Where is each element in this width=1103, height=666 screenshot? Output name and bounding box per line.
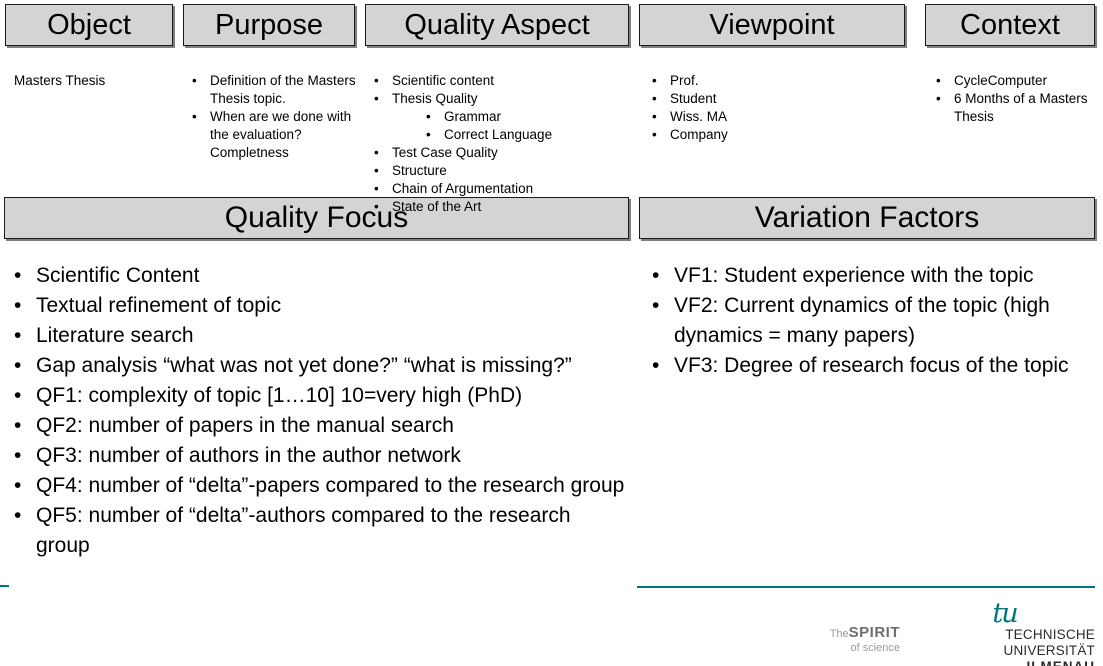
- viewpoint-item-text: Wiss. MA: [670, 109, 727, 124]
- quality-aspect-item-text: Structure: [392, 163, 447, 178]
- context-content: • CycleComputer • 6 Months of a Masters …: [932, 72, 1092, 126]
- list-item: • Structure: [370, 162, 628, 180]
- list-item: • Test Case Quality: [370, 144, 628, 162]
- tu-ilmenau-logo: tu TECHNISCHE UNIVERSITÄT ILMENAU: [920, 601, 1095, 666]
- bullet-icon: •: [374, 198, 379, 216]
- list-item: • VF2: Current dynamics of the topic (hi…: [650, 291, 1082, 351]
- quality-aspect-overflow-item: • State of the Art: [370, 198, 628, 216]
- bullet-icon: •: [652, 108, 657, 126]
- list-item: • VF1: Student experience with the topic: [650, 261, 1082, 291]
- quality-aspect-item-text: Test Case Quality: [392, 145, 498, 160]
- quality-aspect-subitem-text: Correct Language: [444, 127, 552, 142]
- list-item: • QF1: complexity of topic [1…10] 10=ver…: [12, 381, 626, 411]
- list-item: • Wiss. MA: [648, 108, 898, 126]
- bullet-icon: •: [374, 90, 379, 108]
- list-item: • Prof.: [648, 72, 898, 90]
- variation-factor-item-text: VF1: Student experience with the topic: [674, 264, 1034, 287]
- tu-script-mark-icon: tu: [920, 601, 1089, 627]
- quality-focus-subitem-text: QF2: number of papers in the manual sear…: [36, 414, 454, 437]
- bullet-icon: •: [14, 381, 21, 411]
- variation-factor-item-text: VF3: Degree of research focus of the top…: [674, 354, 1069, 377]
- quality-aspect-list-cont: • Test Case Quality • Structure • Chain …: [370, 144, 628, 198]
- list-item: • Literature search: [12, 321, 626, 351]
- plate-context-label: Context: [960, 11, 1060, 40]
- purpose-content: • Definition of the Masters Thesis topic…: [188, 72, 356, 162]
- list-item: • QF5: number of “delta”-authors compare…: [12, 501, 626, 561]
- plate-viewpoint-label: Viewpoint: [709, 11, 834, 40]
- bullet-icon: •: [652, 126, 657, 144]
- bullet-icon: •: [14, 471, 21, 501]
- bullet-icon: •: [14, 411, 21, 441]
- list-item: • Thesis Quality: [370, 90, 628, 108]
- variation-factor-item-text: VF2: Current dynamics of the topic (high…: [674, 294, 1050, 347]
- bullet-icon: •: [14, 261, 21, 291]
- list-item: • Textual refinement of topic: [12, 291, 626, 321]
- spirit-of-science-logo: TheSPIRIT of science: [790, 626, 900, 655]
- bullet-icon: •: [374, 162, 379, 180]
- bullet-icon: •: [374, 72, 379, 90]
- quality-aspect-sublist: • Grammar • Correct Language: [422, 108, 628, 144]
- plate-quality-aspect-label: Quality Aspect: [404, 11, 589, 40]
- quality-focus-subitem-text: QF5: number of “delta”-authors compared …: [36, 504, 571, 557]
- quality-aspect-subitem-text: Grammar: [444, 109, 501, 124]
- list-item: • Company: [648, 126, 898, 144]
- spirit-main-text: SPIRIT: [849, 624, 900, 641]
- quality-focus-subitem-text: QF3: number of authors in the author net…: [36, 444, 461, 467]
- quality-focus-list: • Scientific Content: [12, 261, 626, 291]
- spirit-line-1: TheSPIRIT: [790, 626, 900, 641]
- slide-canvas: Object Purpose Quality Aspect Viewpoint …: [0, 0, 1103, 666]
- context-item-text: 6 Months of a Masters Thesis: [954, 91, 1088, 124]
- bullet-icon: •: [936, 90, 941, 108]
- list-item: • QF2: number of papers in the manual se…: [12, 411, 626, 441]
- plate-quality-aspect: Quality Aspect: [365, 4, 629, 46]
- object-content: Masters Thesis: [14, 72, 174, 90]
- plate-context: Context: [925, 4, 1095, 46]
- list-item: • Grammar: [422, 108, 628, 126]
- quality-aspect-list: • Scientific content • Thesis Quality: [370, 72, 628, 108]
- quality-focus-subitem-text: Gap analysis “what was not yet done?” “w…: [36, 354, 572, 377]
- list-item: • Scientific Content: [12, 261, 626, 291]
- bullet-icon: •: [426, 108, 431, 126]
- quality-aspect-content: • Scientific content • Thesis Quality • …: [370, 72, 628, 198]
- left-edge-accent-tick: [0, 585, 9, 587]
- quality-focus-subitem-text: Textual refinement of topic: [36, 294, 281, 317]
- purpose-item-text: Definition of the Masters Thesis topic.: [210, 73, 356, 106]
- object-item: Masters Thesis: [14, 72, 174, 90]
- bullet-icon: •: [426, 126, 431, 144]
- list-item: • Gap analysis “what was not yet done?” …: [12, 351, 626, 381]
- quality-aspect-item-text: State of the Art: [392, 199, 481, 214]
- list-item: • QF4: number of “delta”-papers compared…: [12, 471, 626, 501]
- plate-object-label: Object: [47, 11, 131, 40]
- plate-variation-factors: Variation Factors: [639, 197, 1095, 239]
- list-item: • Student: [648, 90, 898, 108]
- quality-focus-content: • Scientific Content • Textual refinemen…: [12, 261, 626, 561]
- plate-variation-factors-label: Variation Factors: [755, 203, 980, 233]
- bullet-icon: •: [652, 90, 657, 108]
- quality-focus-subitem-text: Literature search: [36, 324, 194, 347]
- viewpoint-item-text: Student: [670, 91, 717, 106]
- tu-name-line-2: ILMENAU: [920, 659, 1095, 666]
- bullet-icon: •: [192, 108, 197, 126]
- list-item: • CycleComputer: [932, 72, 1092, 90]
- list-item: • Definition of the Masters Thesis topic…: [188, 72, 356, 108]
- purpose-item-text: When are we done with the evaluation? Co…: [210, 109, 351, 160]
- bullet-icon: •: [652, 291, 659, 321]
- list-item: • 6 Months of a Masters Thesis: [932, 90, 1092, 126]
- quality-aspect-overflow-list: • State of the Art: [370, 198, 628, 216]
- viewpoint-item-text: Company: [670, 127, 728, 142]
- viewpoint-item-text: Prof.: [670, 73, 699, 88]
- quality-aspect-sublist-wrap: • Grammar • Correct Language: [422, 108, 628, 144]
- bullet-icon: •: [14, 441, 21, 471]
- plate-purpose: Purpose: [183, 4, 355, 46]
- spirit-line-2: of science: [790, 641, 900, 655]
- viewpoint-content: • Prof. • Student • Wiss. MA • Company: [648, 72, 898, 144]
- list-item: • VF3: Degree of research focus of the t…: [650, 351, 1082, 381]
- viewpoint-list: • Prof. • Student • Wiss. MA • Company: [648, 72, 898, 144]
- variation-factors-list: • VF1: Student experience with the topic…: [650, 261, 1082, 381]
- quality-aspect-item-text: Scientific content: [392, 73, 494, 88]
- context-list: • CycleComputer • 6 Months of a Masters …: [932, 72, 1092, 126]
- bullet-icon: •: [936, 72, 941, 90]
- bullet-icon: •: [652, 72, 657, 90]
- bullet-icon: •: [14, 291, 21, 321]
- context-item-text: CycleComputer: [954, 73, 1047, 88]
- tu-name-line-1: TECHNISCHE UNIVERSITÄT: [920, 627, 1095, 659]
- bullet-icon: •: [374, 144, 379, 162]
- quality-aspect-item-text: Chain of Argumentation: [392, 181, 533, 196]
- quality-focus-item-text: Scientific Content: [36, 264, 199, 287]
- quality-focus-subitem-text: QF4: number of “delta”-papers compared t…: [36, 474, 624, 497]
- list-item: • Correct Language: [422, 126, 628, 144]
- list-item: • QF3: number of authors in the author n…: [12, 441, 626, 471]
- bullet-icon: •: [192, 72, 197, 90]
- plate-object: Object: [5, 4, 173, 46]
- quality-focus-sublist: • Textual refinement of topic • Literatu…: [12, 291, 626, 561]
- variation-factors-content: • VF1: Student experience with the topic…: [650, 261, 1082, 381]
- quality-focus-subitem-text: QF1: complexity of topic [1…10] 10=very …: [36, 384, 522, 407]
- plate-viewpoint: Viewpoint: [639, 4, 905, 46]
- purpose-list: • Definition of the Masters Thesis topic…: [188, 72, 356, 162]
- bullet-icon: •: [652, 351, 659, 381]
- list-item: • Chain of Argumentation: [370, 180, 628, 198]
- footer-divider: [637, 586, 1095, 588]
- list-item: • When are we done with the evaluation? …: [188, 108, 356, 162]
- bullet-icon: •: [14, 501, 21, 531]
- spirit-the-text: The: [830, 628, 849, 640]
- plate-purpose-label: Purpose: [215, 11, 323, 40]
- bullet-icon: •: [374, 180, 379, 198]
- bullet-icon: •: [652, 261, 659, 291]
- bullet-icon: •: [14, 351, 21, 381]
- list-item: • State of the Art: [370, 198, 628, 216]
- list-item: • Scientific content: [370, 72, 628, 90]
- quality-aspect-item-text: Thesis Quality: [392, 91, 478, 106]
- bullet-icon: •: [14, 321, 21, 351]
